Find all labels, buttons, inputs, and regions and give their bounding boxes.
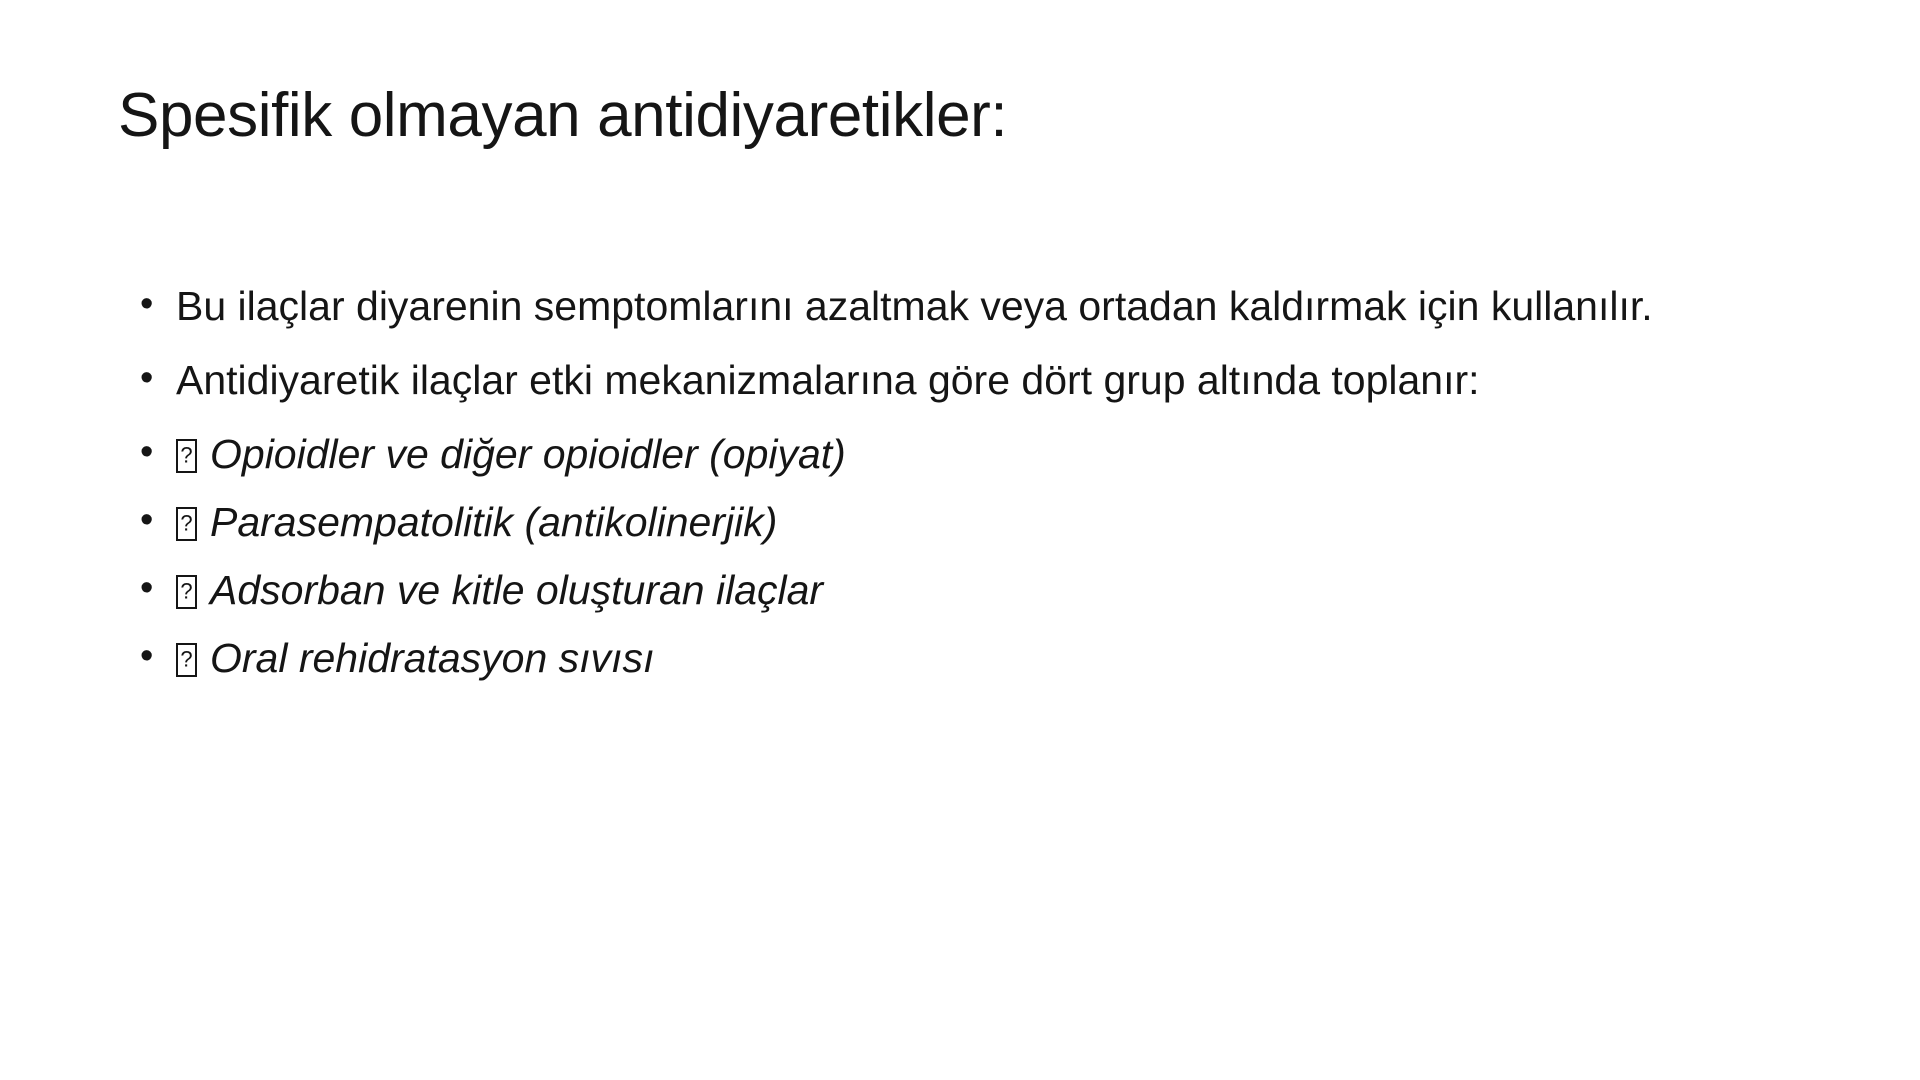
list-item-text: Adsorban ve kitle oluşturan ilaçlar (210, 567, 823, 613)
list-item[interactable]: • Oral rehidratasyon sıvısı (140, 632, 1790, 684)
list-item-content: Parasempatolitik (antikolinerjik) (176, 496, 1790, 548)
list-item-content: Opioidler ve diğer opioidler (opiyat) (176, 428, 1790, 480)
list-item-text: Opioidler ve diğer opioidler (opiyat) (210, 431, 846, 477)
list-item-text: Antidiyaretik ilaçlar etki mekanizmaları… (176, 354, 1786, 406)
missing-glyph-box-icon (176, 507, 197, 541)
bullet-marker-icon: • (140, 354, 176, 403)
bullet-marker-icon: • (140, 496, 176, 545)
missing-glyph-box-icon (176, 439, 197, 473)
bullet-marker-icon: • (140, 632, 176, 681)
list-item-content: Adsorban ve kitle oluşturan ilaçlar (176, 564, 1790, 616)
list-item-text: Bu ilaçlar diyarenin semptomlarını azalt… (176, 280, 1786, 332)
content-placeholder[interactable]: • Bu ilaçlar diyarenin semptomlarını aza… (140, 280, 1790, 700)
bullet-marker-icon: • (140, 280, 176, 329)
list-item[interactable]: • Adsorban ve kitle oluşturan ilaçlar (140, 564, 1790, 616)
title-placeholder[interactable]: Spesifik olmayan antidiyaretikler: (118, 80, 1818, 190)
bullet-marker-icon: • (140, 564, 176, 613)
missing-glyph-box-icon (176, 575, 197, 609)
list-item[interactable]: • Parasempatolitik (antikolinerjik) (140, 496, 1790, 548)
bullet-marker-icon: • (140, 428, 176, 477)
list-item-content: Oral rehidratasyon sıvısı (176, 632, 1790, 684)
list-item[interactable]: • Antidiyaretik ilaçlar etki mekanizmala… (140, 354, 1790, 406)
missing-glyph-box-icon (176, 643, 197, 677)
presentation-slide: Spesifik olmayan antidiyaretikler: • Bu … (0, 0, 1920, 1080)
list-item-text: Oral rehidratasyon sıvısı (210, 635, 654, 681)
list-item[interactable]: • Bu ilaçlar diyarenin semptomlarını aza… (140, 280, 1790, 332)
list-item-text: Parasempatolitik (antikolinerjik) (210, 499, 777, 545)
page-title: Spesifik olmayan antidiyaretikler: (118, 80, 1818, 151)
list-item[interactable]: • Opioidler ve diğer opioidler (opiyat) (140, 428, 1790, 480)
